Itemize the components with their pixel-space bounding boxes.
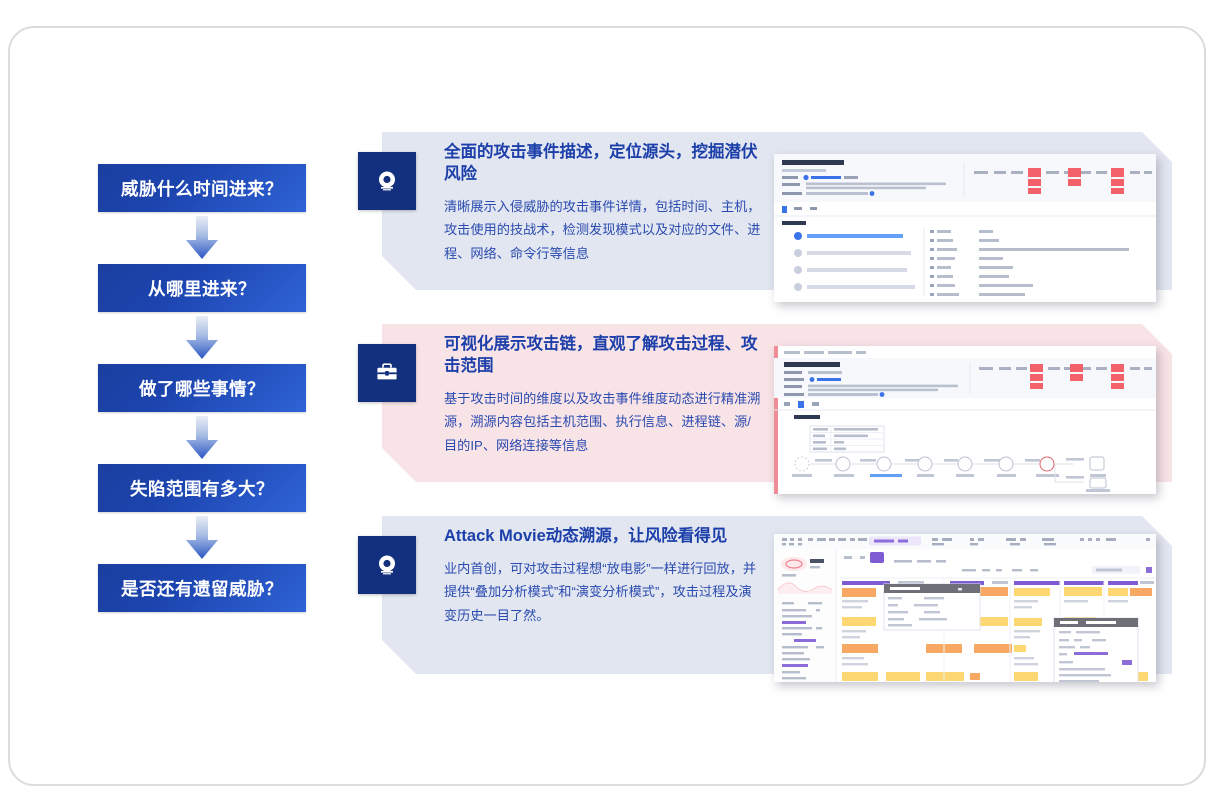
panel-title-1: 全面的攻击事件描述，定位源头，挖掘潜伏风险	[444, 142, 762, 186]
thumbnail-attack-chain-graph[interactable]	[774, 346, 1156, 494]
panel-text-1: 全面的攻击事件描述，定位源头，挖掘潜伏风险 清晰展示入侵威胁的攻击事件详情，包括…	[444, 142, 762, 265]
flow-step-5[interactable]: 是否还有遗留威胁？	[98, 564, 306, 612]
panel-badge-1	[358, 152, 416, 210]
panel-description-1: 清晰展示入侵威胁的攻击事件详情，包括时间、主机，攻击使用的技战术，检测发现模式以…	[444, 195, 762, 266]
toolbox-icon	[374, 360, 400, 386]
panel-description-2: 基于攻击时间的维度以及攻击事件维度动态进行精准溯源，溯源内容包括主机范围、执行信…	[444, 387, 762, 458]
panel-text-2: 可视化展示攻击链，直观了解攻击过程、攻击范围 基于攻击时间的维度以及攻击事件维度…	[444, 334, 762, 457]
thumbnail-attack-event-detail[interactable]	[774, 154, 1156, 302]
panel-title-2: 可视化展示攻击链，直观了解攻击过程、攻击范围	[444, 334, 762, 378]
flow-arrow-1	[98, 212, 306, 264]
panel-text-3: Attack Movie动态溯源，让风险看得见 业内首创，可对攻击过程想“放电影…	[444, 526, 762, 627]
feature-panel-attack-movie-playback[interactable]: Attack Movie动态溯源，让风险看得见 业内首创，可对攻击过程想“放电影…	[382, 516, 1172, 674]
flow-step-4[interactable]: 失陷范围有多大？	[98, 464, 306, 512]
feature-panel-attack-event-description[interactable]: 全面的攻击事件描述，定位源头，挖掘潜伏风险 清晰展示入侵威胁的攻击事件详情，包括…	[382, 132, 1172, 290]
flow-arrow-4	[98, 512, 306, 564]
panel-badge-2	[358, 344, 416, 402]
flow-step-2[interactable]: 从哪里进来？	[98, 264, 306, 312]
panel-badge-3	[358, 536, 416, 594]
thumbnail-attack-movie-timeline[interactable]	[774, 534, 1156, 682]
camera-lens-icon	[374, 552, 400, 578]
flow-step-3[interactable]: 做了哪些事情？	[98, 364, 306, 412]
feature-panel-attack-chain-visualization[interactable]: 可视化展示攻击链，直观了解攻击过程、攻击范围 基于攻击时间的维度以及攻击事件维度…	[382, 324, 1172, 482]
camera-lens-icon	[374, 168, 400, 194]
slide-frame: 威胁什么时间进来？ 从哪里进来？ 做了哪些事情？	[8, 26, 1206, 786]
flow-arrow-2	[98, 312, 306, 364]
flow-column: 威胁什么时间进来？ 从哪里进来？ 做了哪些事情？	[98, 164, 306, 612]
flow-arrow-3	[98, 412, 306, 464]
panel-title-3: Attack Movie动态溯源，让风险看得见	[444, 526, 762, 548]
flow-step-1[interactable]: 威胁什么时间进来？	[98, 164, 306, 212]
panel-description-3: 业内首创，可对攻击过程想“放电影”一样进行回放，并提供“叠加分析模式”和“演变分…	[444, 557, 762, 628]
